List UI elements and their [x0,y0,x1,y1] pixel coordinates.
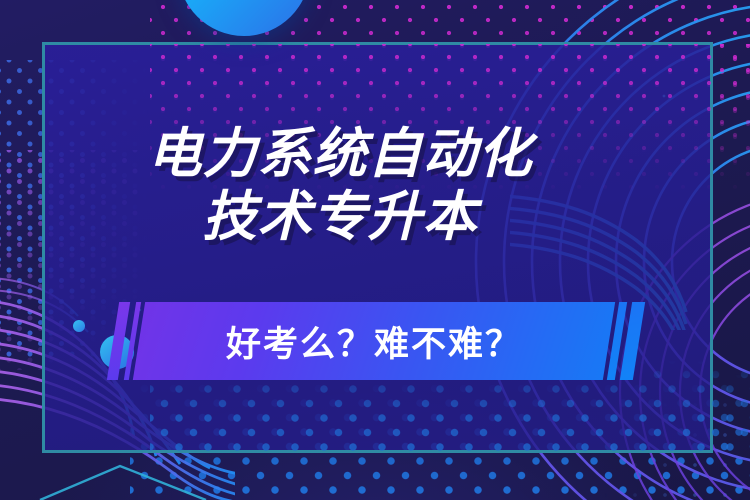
poster-canvas: 电力系统自动化 技术专升本 好考么？难不难？ [0,0,750,500]
title-line-1: 电力系统自动化 [0,122,680,185]
accent-circle-small-icon [73,320,85,332]
subtitle-banner: 好考么？难不难？ [113,302,637,380]
subtitle-text: 好考么？难不难？ [139,302,609,380]
page-title: 电力系统自动化 技术专升本 [0,122,680,248]
title-line-2: 技术专升本 [0,185,680,248]
